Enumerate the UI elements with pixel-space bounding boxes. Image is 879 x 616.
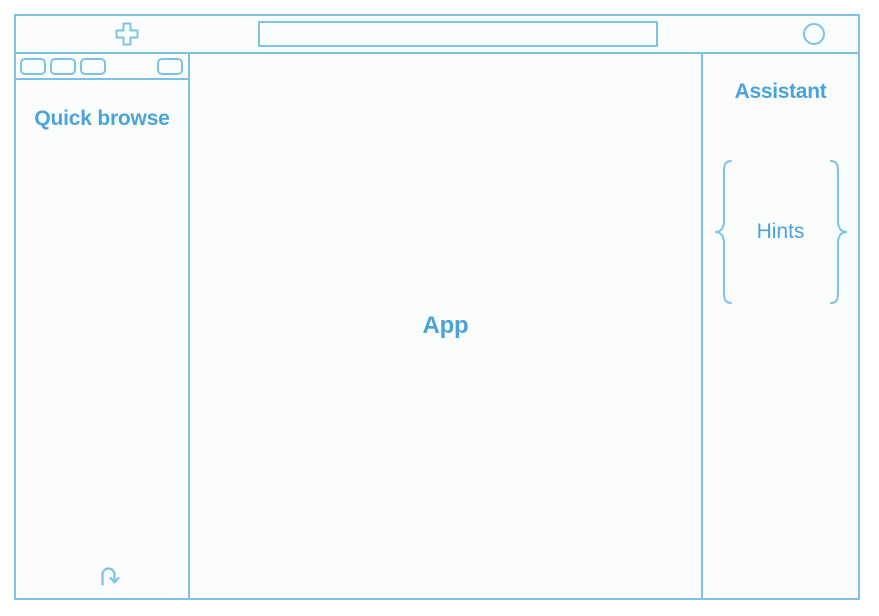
close-brace-icon (827, 159, 849, 305)
browser-toolbar (16, 16, 858, 54)
sidebar-toolbar (16, 54, 188, 80)
toolbar-chip-4[interactable] (157, 58, 183, 75)
hints-block: Hints (713, 158, 849, 306)
toolbar-chip-1[interactable] (20, 58, 46, 75)
toolbar-chip-2[interactable] (50, 58, 76, 75)
window-body: Quick browse App Assistant (16, 54, 858, 598)
address-bar-input[interactable] (258, 21, 658, 47)
new-tab-button[interactable] (99, 16, 155, 52)
browser-wireframe-window: Quick browse App Assistant (14, 14, 860, 600)
sidebar-footer (16, 560, 188, 592)
circle-avatar-icon (801, 21, 827, 47)
quick-browse-sidebar: Quick browse (16, 54, 190, 598)
toolbar-chip-3[interactable] (80, 58, 106, 75)
assistant-title: Assistant (735, 80, 827, 104)
u-turn-back-icon (96, 563, 124, 589)
sidebar-content: Quick browse (16, 80, 188, 598)
open-brace-icon (713, 159, 735, 305)
assistant-panel: Assistant Hints (703, 54, 858, 598)
back-button[interactable] (93, 560, 127, 592)
app-canvas[interactable]: App (190, 54, 703, 598)
plus-icon (112, 19, 142, 49)
account-button[interactable] (794, 16, 834, 52)
hints-label: Hints (735, 220, 827, 244)
sidebar-title: Quick browse (34, 106, 169, 133)
app-label: App (422, 312, 468, 340)
